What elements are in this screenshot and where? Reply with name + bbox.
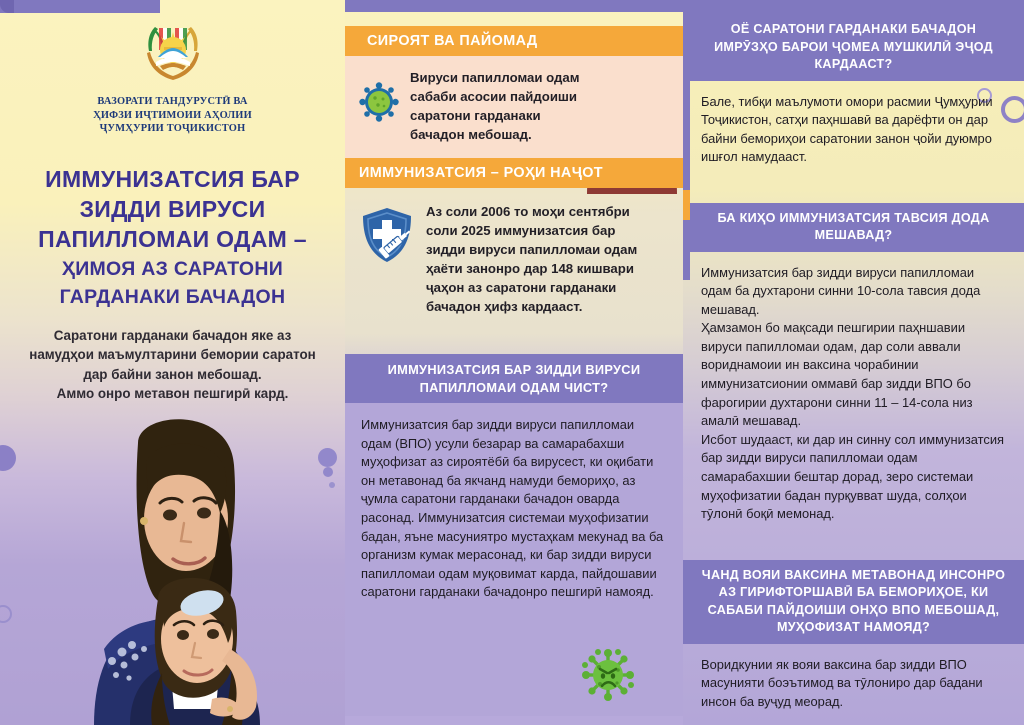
angry-virus-mascot-icon	[581, 648, 635, 702]
title-line-4: ҲИМОЯ АЗ САРАТОНИ	[16, 256, 329, 282]
decorative-dot-small	[0, 605, 12, 623]
right-spacer-1	[683, 193, 1024, 203]
right-section-who: БА КИҲО ИММУНИЗАТСИЯ ТАВСИЯ ДОДА МЕШАВАД…	[683, 203, 1024, 550]
right-body-doses: Воридкунии як вояи ваксина бар зидди ВПО…	[683, 644, 1024, 722]
right-edge-tab-orange	[683, 190, 690, 220]
doses-text: Воридкунии як вояи ваксина бар зидди ВПО…	[701, 656, 1008, 712]
virus-icon	[359, 82, 399, 122]
middle-column: СИРОЯТ ВА ПАЙОМАД	[345, 0, 683, 725]
what-is-immunization-text: Иммунизатсия бар зидди вируси папилломаи…	[361, 416, 667, 602]
emblem-container	[0, 0, 345, 95]
what-is-header-line-2: ПАПИЛЛОМАИ ОДАМ ЧИСТ?	[420, 380, 609, 395]
right-header-burden: ОЁ САРАТОНИ ГАРДАНАКИ БАЧАДОН ИМРӮЗҲО БА…	[683, 14, 1024, 81]
top-accent-bar	[0, 0, 160, 13]
section-header-what-is-immunization: ИММУНИЗАТСИЯ БАР ЗИДДИ ВИРУСИ ПАПИЛЛОМАИ…	[345, 354, 683, 403]
who-paragraph-1: Иммунизатсия бар зидди вируси папилломаи…	[701, 264, 1008, 320]
section-body-transmission: Вируси папилломаи одам сабаби асосии пай…	[345, 56, 683, 158]
middle-top-strip	[345, 0, 683, 12]
section-header-immunization-way: ИММУНИЗАТСИЯ – РОҲИ НАҶОТ	[345, 158, 683, 188]
who-paragraph-2: Ҳамзамон бо мақсади пешгирии паҳншавии в…	[701, 319, 1008, 431]
ministry-name-line-3: ҶУМҲУРИИ ТОҶИКИСТОН	[0, 122, 345, 136]
decorative-dot-large	[0, 445, 16, 471]
right-edge-tab-mid	[683, 220, 690, 280]
title-line-1: ИММУНИЗАТСИЯ БАР	[45, 166, 300, 192]
section-body-what-is-immunization: Иммунизатсия бар зидди вируси папилломаи…	[345, 403, 683, 716]
title-line-2: ЗИДДИ ВИРУСИ	[80, 196, 266, 222]
decorative-dot-right-2	[323, 467, 333, 477]
who-paragraph-3: Исбот шудааст, ки дар ин синну сол иммун…	[701, 431, 1008, 524]
right-top-strip	[683, 0, 1024, 14]
brochure-page: ВАЗОРАТИ ТАНДУРУСТӢ ВА ҲИФЗИ ИҶТИМОИИ АҲ…	[0, 0, 1024, 725]
right-edge-tab-upper	[683, 14, 690, 190]
right-header-doses: ЧАНД ВОЯИ ВАКСИНА МЕТАВОНАД ИНСОНРО АЗ Г…	[683, 560, 1024, 644]
right-column: ОЁ САРАТОНИ ГАРДАНАКИ БАЧАДОН ИМРӮЗҲО БА…	[683, 0, 1024, 725]
immunization-way-text: Аз соли 2006 то моҳи сентябри соли 2025 …	[426, 202, 638, 316]
decorative-dot-right-3	[329, 482, 335, 488]
transmission-text: Вируси папилломаи одам сабаби асосии пай…	[410, 68, 595, 144]
left-column: ВАЗОРАТИ ТАНДУРУСТӢ ВА ҲИФЗИ ИҶТИМОИИ АҲ…	[0, 0, 345, 725]
ministry-name-line-2: ҲИФЗИ ИҶТИМОИИ АҲОЛИИ	[0, 109, 345, 123]
ministry-name-line-1: ВАЗОРАТИ ТАНДУРУСТӢ ВА	[0, 95, 345, 109]
mother-and-daughter-photo	[34, 403, 310, 725]
right-spacer-2	[683, 550, 1024, 560]
right-body-burden: Бале, тибқи маълумоти омори расмии Ҷумҳу…	[683, 81, 1024, 193]
what-is-header-line-1: ИММУНИЗАТСИЯ БАР ЗИДДИ ВИРУСИ	[388, 362, 641, 377]
right-section-burden: ОЁ САРАТОНИ ГАРДАНАКИ БАЧАДОН ИМРӮЗҲО БА…	[683, 14, 1024, 193]
section-header-transmission: СИРОЯТ ВА ПАЙОМАД	[345, 26, 683, 56]
title-line-3: ПАПИЛЛОМАИ ОДАМ –	[38, 226, 307, 252]
section-body-immunization-way: Аз соли 2006 то моҳи сентябри соли 2025 …	[345, 188, 683, 328]
right-body-who: Иммунизатсия бар зидди вируси папилломаи…	[683, 252, 1024, 550]
page-title: ИММУНИЗАТСИЯ БАР ЗИДДИ ВИРУСИ ПАПИЛЛОМАИ…	[16, 164, 329, 310]
shield-with-syringe-icon	[359, 206, 415, 264]
right-header-who: БА КИҲО ИММУНИЗАТСИЯ ТАВСИЯ ДОДА МЕШАВАД…	[683, 203, 1024, 252]
right-section-doses: ЧАНД ВОЯИ ВАКСИНА МЕТАВОНАД ИНСОНРО АЗ Г…	[683, 560, 1024, 722]
decorative-dot-right-1	[318, 448, 337, 467]
tajikistan-state-emblem-icon	[136, 20, 210, 90]
burden-text: Бале, тибқи маълумоти омори расмии Ҷумҳу…	[701, 93, 1008, 167]
title-line-5: ГАРДАНАКИ БАЧАДОН	[16, 284, 329, 310]
lead-paragraph: Саратони гарданаки бачадон яке аз намудҳ…	[20, 326, 325, 404]
